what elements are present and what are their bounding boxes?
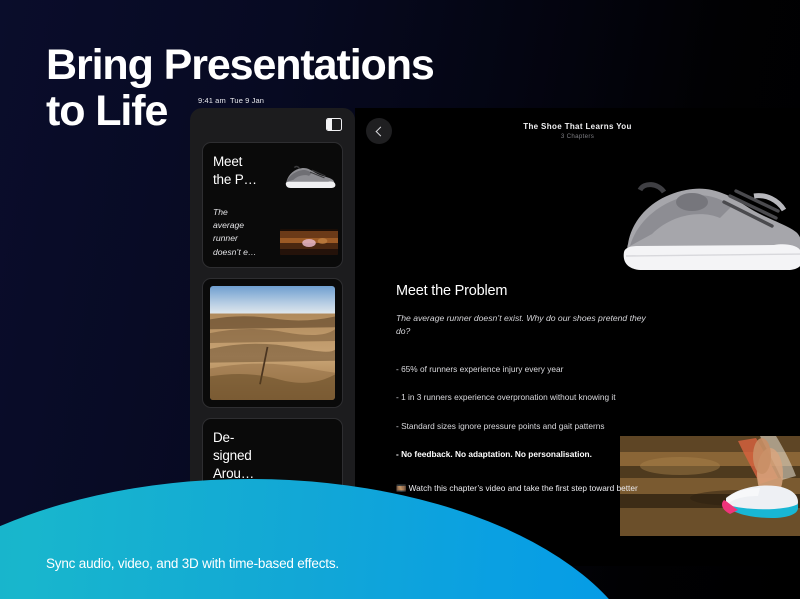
motion-blur-runner-photo	[620, 436, 800, 536]
list-item[interactable]	[202, 278, 343, 408]
sneaker-photo	[280, 154, 338, 194]
bullet-item: - 1 in 3 runners experience overpronatio…	[396, 391, 646, 403]
slide-caption: Sync audio, video, and 3D with time-base…	[46, 556, 339, 571]
chapter-card-subtitle: The average runner doesn’t e…	[213, 206, 261, 259]
list-item[interactable]: Meet the P… The average runner doesn’t e…	[202, 142, 343, 268]
running-track-photo	[280, 229, 338, 255]
slide-stage: Bring Presentations to Life 9:41 am Tue …	[0, 0, 800, 599]
document-subtitle: 3 Chapters	[355, 133, 800, 140]
page-title: Bring Presentations to Life	[46, 42, 434, 134]
sand-dune-photo	[210, 286, 335, 400]
bullet-item: - 65% of runners experience injury every…	[396, 363, 646, 375]
chapter-card-list: Meet the P… The average runner doesn’t e…	[190, 142, 355, 514]
document-body: Meet the Problem The average runner does…	[396, 283, 646, 507]
grey-sneaker-photo	[606, 156, 800, 281]
document-canvas: The Shoe That Learns You 3 Chapters	[355, 108, 800, 566]
section-heading: Meet the Problem	[396, 283, 646, 299]
section-lede: The average runner doesn’t exist. Why do…	[396, 312, 646, 339]
bullet-item: - Standard sizes ignore pressure points …	[396, 420, 646, 432]
bullet-item: - No feedback. No adaptation. No persona…	[396, 448, 646, 460]
film-icon: 🎞️	[396, 483, 406, 493]
chapter-card-title: De- signed Arou…	[213, 429, 277, 482]
chapter-card-title: Meet the P…	[213, 153, 271, 189]
